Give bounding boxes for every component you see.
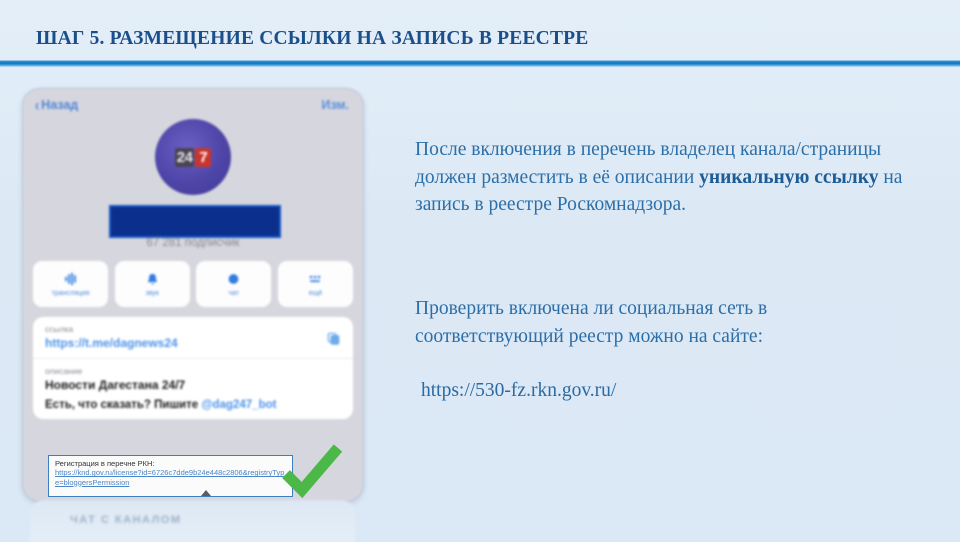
action-button-label: ещё (309, 290, 323, 297)
phone-footer-label: ЧАТ С КАНАЛОМ (70, 514, 182, 526)
action-button-sound[interactable]: звук (115, 261, 190, 307)
description-value: Новости Дагестана 24/7 (45, 378, 341, 392)
description-label: описание (45, 366, 341, 376)
link-row[interactable]: ссылка https://t.me/dagnews24 (33, 317, 353, 358)
action-button-label: звук (145, 290, 158, 297)
edit-button[interactable]: Изм. (321, 98, 349, 112)
avatar-logo: 247 (175, 148, 212, 167)
back-button-label: Назад (41, 98, 78, 112)
action-button-label: чат (229, 290, 240, 297)
avatar-text-primary: 24 (175, 148, 195, 167)
action-button-broadcast[interactable]: трансляция (33, 261, 108, 307)
back-button[interactable]: ‹Назад (35, 98, 78, 112)
avatar-text-badge: 7 (195, 148, 211, 167)
description-bot-link[interactable]: @dag247_bot (201, 399, 276, 411)
subscriber-count: 67 281 подписчик (23, 237, 363, 249)
dots-icon (307, 271, 323, 287)
action-button-more[interactable]: ещё (278, 261, 353, 307)
description-extra-text: Есть, что сказать? Пишите (45, 399, 201, 411)
page-title: ШАГ 5. РАЗМЕЩЕНИЕ ССЫЛКИ НА ЗАПИСЬ В РЕЕ… (36, 28, 588, 50)
registration-title: Регистрация в перечне РКН: (55, 459, 287, 468)
slide-header: ШАГ 5. РАЗМЕЩЕНИЕ ССЫЛКИ НА ЗАПИСЬ В РЕЕ… (0, 0, 960, 72)
action-buttons-row: трансляция звук чат (33, 261, 353, 307)
action-button-label: трансляция (52, 290, 90, 297)
paragraph-1: После включения в перечень владелец кана… (415, 136, 915, 219)
circle-icon (226, 271, 242, 287)
green-check-icon (278, 440, 346, 506)
registration-highlight-box: Регистрация в перечне РКН: https://knd.g… (48, 455, 293, 497)
copy-icon[interactable] (326, 331, 341, 346)
phone-footer-strip: ЧАТ С КАНАЛОМ (30, 500, 355, 542)
link-label: ссылка (45, 324, 341, 334)
description-extra: Есть, что сказать? Пишите @dag247_bot (45, 399, 341, 411)
title-divider (0, 60, 960, 67)
channel-name-redaction (109, 205, 281, 238)
action-button-chat[interactable]: чат (196, 261, 271, 307)
sound-wave-icon (63, 271, 79, 287)
caret-up-icon (201, 490, 211, 496)
site-url-link[interactable]: https://530-fz.rkn.gov.ru/ (421, 380, 915, 402)
registration-link[interactable]: https://knd.gov.ru/license?id=6726c7dde9… (55, 468, 287, 487)
channel-info-card: ссылка https://t.me/dagnews24 описание Н… (33, 317, 353, 419)
link-value[interactable]: https://t.me/dagnews24 (45, 336, 341, 350)
paragraph-2: Проверить включена ли социальная сеть в … (415, 295, 915, 350)
slide-canvas: ШАГ 5. РАЗМЕЩЕНИЕ ССЫЛКИ НА ЗАПИСЬ В РЕЕ… (0, 0, 960, 542)
avatar: 247 (155, 119, 231, 195)
description-row: описание Новости Дагестана 24/7 Есть, чт… (33, 358, 353, 419)
bell-icon (144, 271, 160, 287)
text-column: После включения в перечень владелец кана… (415, 136, 915, 402)
phone-nav-bar: ‹Назад Изм. (23, 95, 363, 117)
chevron-left-icon: ‹ (35, 96, 39, 115)
paragraph-1-bold: уникальную ссылку (699, 167, 878, 188)
